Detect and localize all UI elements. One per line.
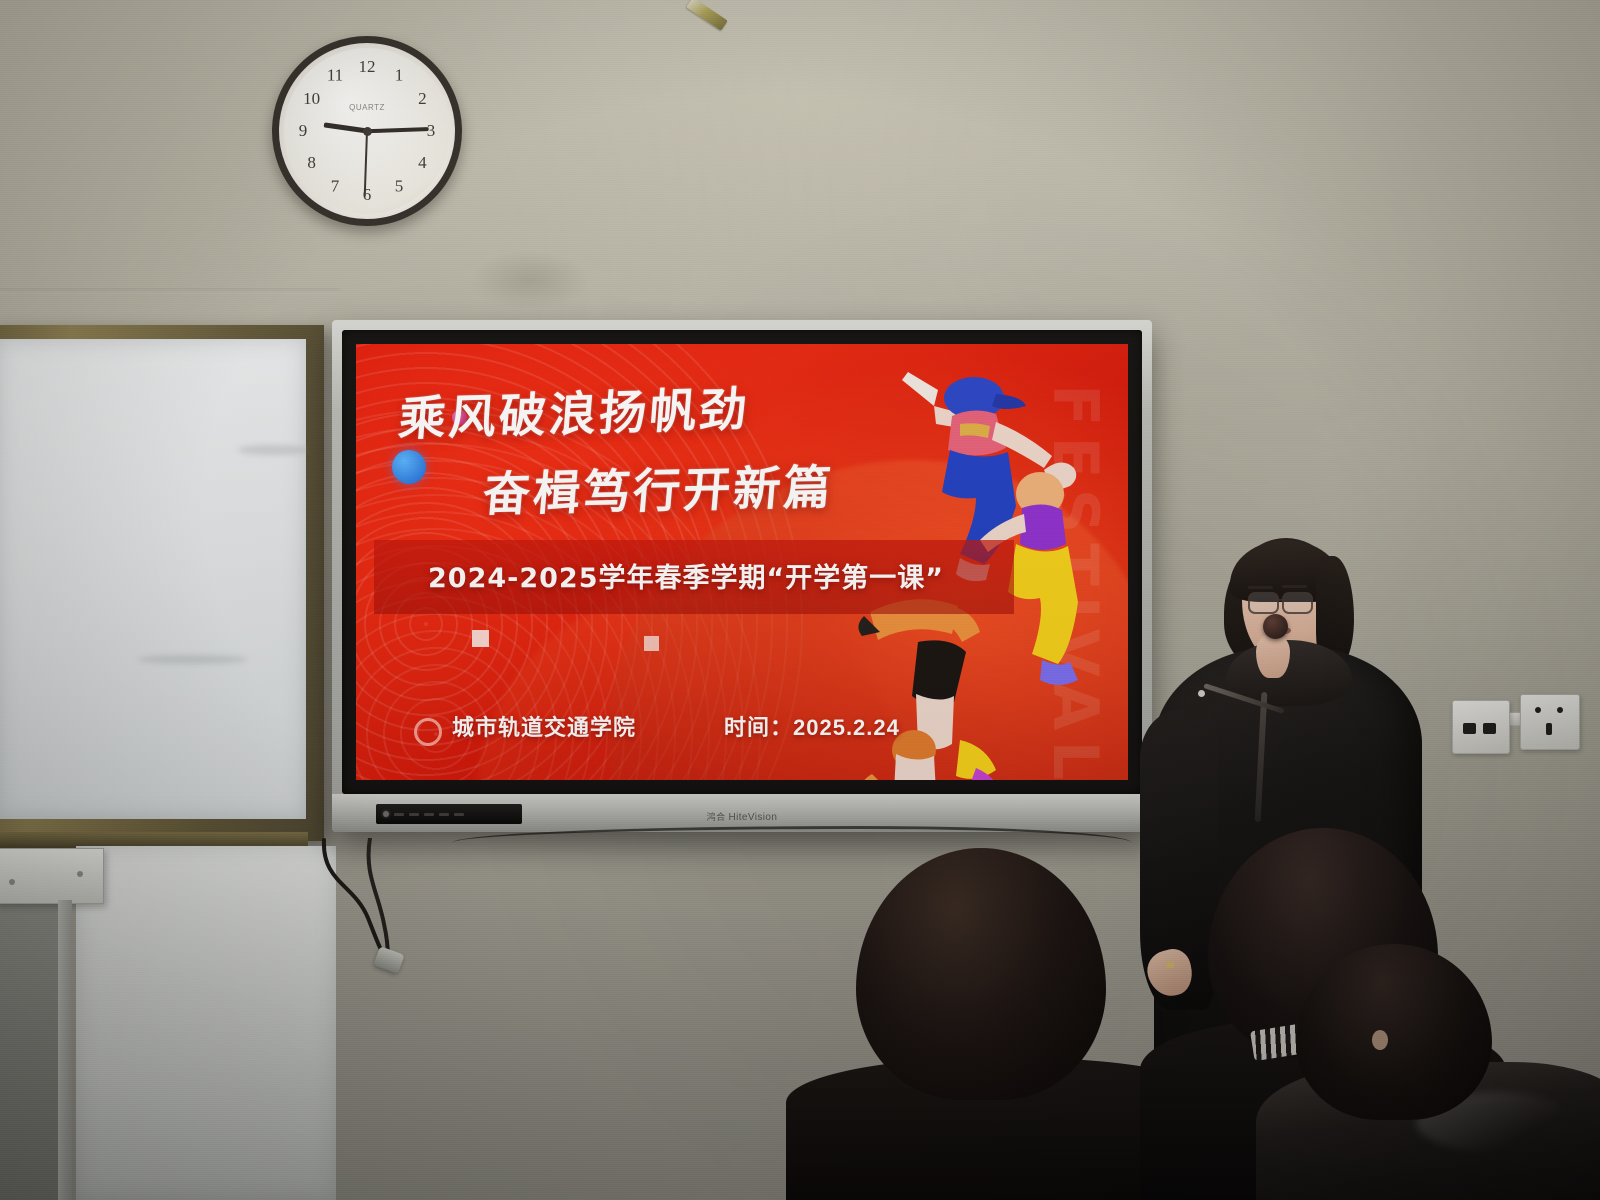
- presenter-eyebrow: [1282, 585, 1307, 588]
- white-square-icon: [644, 636, 659, 651]
- white-square-icon: [472, 630, 489, 647]
- clock-numeral: 11: [324, 67, 346, 85]
- presenter-hand-raised: [1256, 634, 1290, 678]
- slide-title-line-1: 乘风破浪扬帆劲: [396, 360, 1128, 449]
- clock-numeral: 6: [356, 186, 378, 204]
- microphone-icon: [1263, 614, 1288, 639]
- slide-department-label: 城市轨道交通学院: [452, 710, 636, 742]
- power-indicator-icon: [383, 811, 389, 817]
- clock-numeral: 8: [301, 154, 323, 172]
- socket-hole-icon: [1546, 723, 1552, 735]
- clock-numeral: 12: [356, 58, 378, 76]
- lower-wall-panel: [76, 846, 336, 1200]
- control-tick-icon: [424, 813, 434, 816]
- network-wall-plate[interactable]: [1452, 700, 1510, 754]
- screw-icon: [9, 879, 15, 885]
- ethernet-port-icon: [1463, 723, 1476, 734]
- slide-title-line-2: 奋楫笃行开新篇: [480, 442, 1128, 524]
- coat-stud-icon: [1198, 690, 1205, 697]
- screw-icon: [77, 871, 83, 877]
- socket-hole-icon: [1535, 707, 1541, 713]
- display-brand-en: HiteVision: [728, 812, 777, 823]
- whiteboard: [0, 325, 324, 841]
- clock-numeral: 10: [301, 90, 323, 108]
- glasses-bridge-icon: [1275, 599, 1284, 601]
- control-tick-icon: [409, 813, 419, 816]
- slide-title-block: 乘风破浪扬帆劲 奋楫笃行开新篇: [356, 370, 1128, 518]
- wall-clock: QUARTZ 121234567891011: [272, 36, 462, 226]
- student-head: [1296, 944, 1492, 1120]
- mounting-bracket: [0, 848, 104, 904]
- vga-cable: [318, 838, 508, 988]
- clock-numeral: 1: [388, 67, 410, 85]
- bracket-column: [58, 900, 72, 1200]
- clock-numeral: 3: [420, 122, 442, 140]
- wall-smudge: [470, 250, 590, 310]
- display-bezel: FESTIVAL: [342, 330, 1142, 794]
- whiteboard-surface: [0, 339, 306, 819]
- control-tick-icon: [439, 813, 449, 816]
- ring-icon: [414, 718, 442, 746]
- clock-numeral: 4: [411, 154, 433, 172]
- presenter-eyebrow: [1248, 586, 1273, 589]
- clock-numeral: 9: [292, 122, 314, 140]
- slide-subtitle: 2024-2025学年春季学期“开学第一课”: [428, 556, 944, 595]
- student-right: [1266, 952, 1600, 1200]
- display-control-panel[interactable]: [376, 804, 522, 824]
- dancer-bottom: [858, 599, 1002, 780]
- glasses-icon: [1248, 592, 1279, 614]
- clock-numeral: 5: [388, 177, 410, 195]
- socket-hole-icon: [1557, 707, 1563, 713]
- wall-recess: [0, 902, 60, 1200]
- control-tick-icon: [454, 813, 464, 816]
- display-brand-cn: 鸿合: [707, 812, 726, 822]
- classroom-photo: QUARTZ 121234567891011: [0, 0, 1600, 1200]
- presentation-slide: FESTIVAL: [356, 344, 1128, 780]
- clock-center-pin: [363, 127, 372, 136]
- whiteboard-smudge: [238, 445, 308, 455]
- clock-brand-label: QUARTZ: [349, 103, 385, 112]
- display-brand: 鸿合HiteVision: [707, 810, 778, 823]
- whiteboard-smudge: [138, 655, 248, 664]
- clock-numeral: 7: [324, 177, 346, 195]
- wall-seam: [0, 288, 340, 294]
- student-ear: [1372, 1030, 1388, 1050]
- glasses-icon: [1282, 592, 1313, 614]
- clock-numeral: 2: [411, 90, 433, 108]
- power-wall-socket[interactable]: [1520, 694, 1580, 750]
- student-head: [856, 848, 1106, 1100]
- display-screen[interactable]: FESTIVAL: [356, 344, 1128, 780]
- interactive-flat-panel[interactable]: FESTIVAL: [332, 320, 1152, 832]
- ethernet-port-icon: [1483, 723, 1496, 734]
- control-tick-icon: [394, 813, 404, 816]
- slide-date-label: 时间：2025.2.24: [724, 710, 900, 742]
